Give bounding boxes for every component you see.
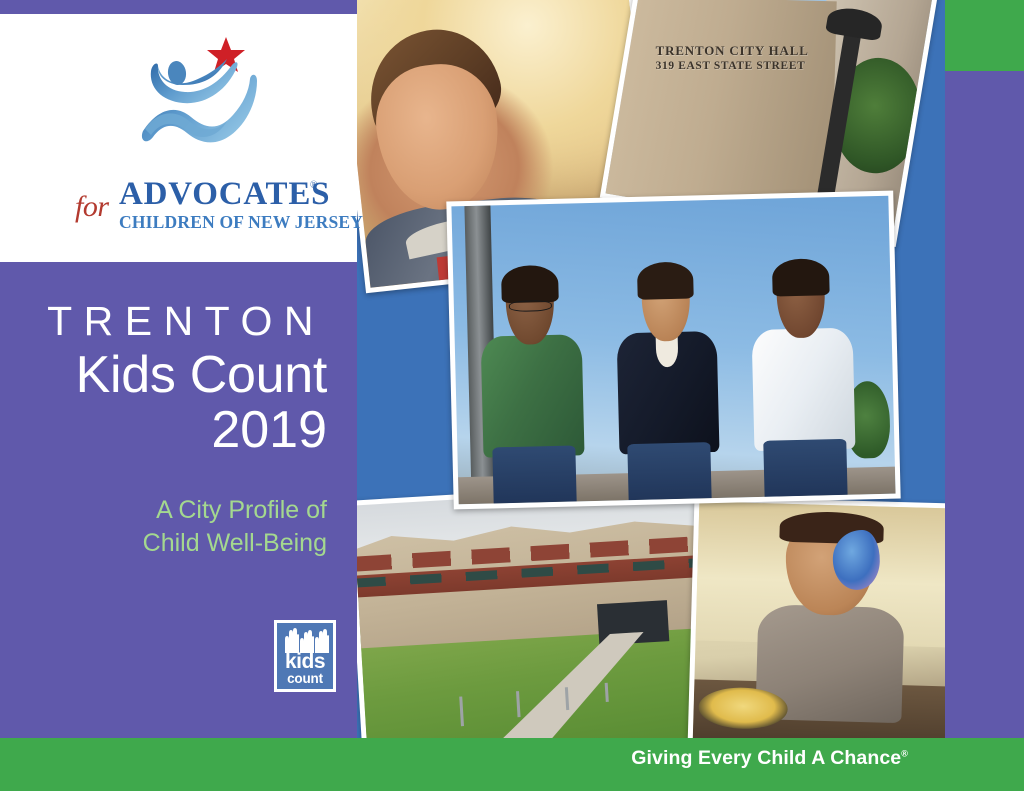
green-corner-block	[945, 0, 1024, 71]
page-title-city: TRENTON	[0, 300, 327, 343]
school-building-photo	[357, 480, 723, 738]
student-hair	[501, 265, 559, 304]
report-cover: TRENTON CITY HALL 319 EAST STATE STREET	[0, 0, 1024, 791]
photo-image	[693, 501, 945, 738]
student-jeans	[763, 439, 847, 497]
student-jeans	[628, 442, 712, 500]
city-hall-sign-line-2: 319 EAST STATE STREET	[656, 59, 830, 73]
girl-face-paint-photo	[688, 496, 945, 738]
purple-right-column	[945, 71, 1024, 738]
logo-organization-name: ADVOCATES	[119, 178, 330, 211]
photo-collage: TRENTON CITY HALL 319 EAST STATE STREET	[357, 0, 945, 738]
page-subtitle-line-1: A City Profile of	[0, 494, 327, 527]
logo-for-word: for	[75, 190, 109, 224]
page-title-year: 2019	[0, 402, 327, 458]
leaping-figure-icon	[131, 35, 281, 163]
footer-tagline-text: Giving Every Child A Chance	[631, 747, 901, 769]
cover-title-block: TRENTON Kids Count 2019 A City Profile o…	[0, 300, 357, 559]
student-hair	[636, 261, 694, 300]
student-hair	[772, 258, 830, 297]
page-subtitle: A City Profile of Child Well-Being	[0, 494, 327, 559]
student-blouse	[752, 327, 855, 450]
footer-tagline: Giving Every Child A Chance®	[631, 747, 908, 770]
red-star-icon	[207, 37, 245, 72]
organization-logo-card: for ADVOCATES ® CHILDREN OF NEW JERSEY	[0, 14, 357, 262]
page-title-series: Kids Count	[0, 349, 327, 402]
footer-tagline-registered-mark: ®	[901, 749, 908, 759]
logo-registered-mark: ®	[310, 180, 318, 191]
kids-count-logo: kids count	[274, 620, 336, 692]
city-hall-engraved-sign: TRENTON CITY HALL 319 EAST STATE STREET	[656, 43, 830, 74]
student-jeans	[492, 446, 576, 504]
kids-count-line-1: kids	[277, 651, 333, 672]
student-sweater	[481, 334, 584, 457]
page-subtitle-line-2: Child Well-Being	[0, 527, 327, 560]
organization-wordmark: for ADVOCATES ® CHILDREN OF NEW JERSEY	[73, 176, 323, 238]
student-figure	[610, 265, 725, 500]
photo-image	[357, 485, 717, 738]
city-hall-sign-line-1: TRENTON CITY HALL	[656, 43, 830, 59]
kids-count-line-2: count	[277, 672, 333, 686]
three-students-photo	[446, 191, 900, 510]
student-figure	[746, 262, 861, 497]
student-figure	[475, 269, 590, 504]
photo-image	[451, 196, 895, 505]
logo-subtitle: CHILDREN OF NEW JERSEY	[119, 212, 363, 233]
